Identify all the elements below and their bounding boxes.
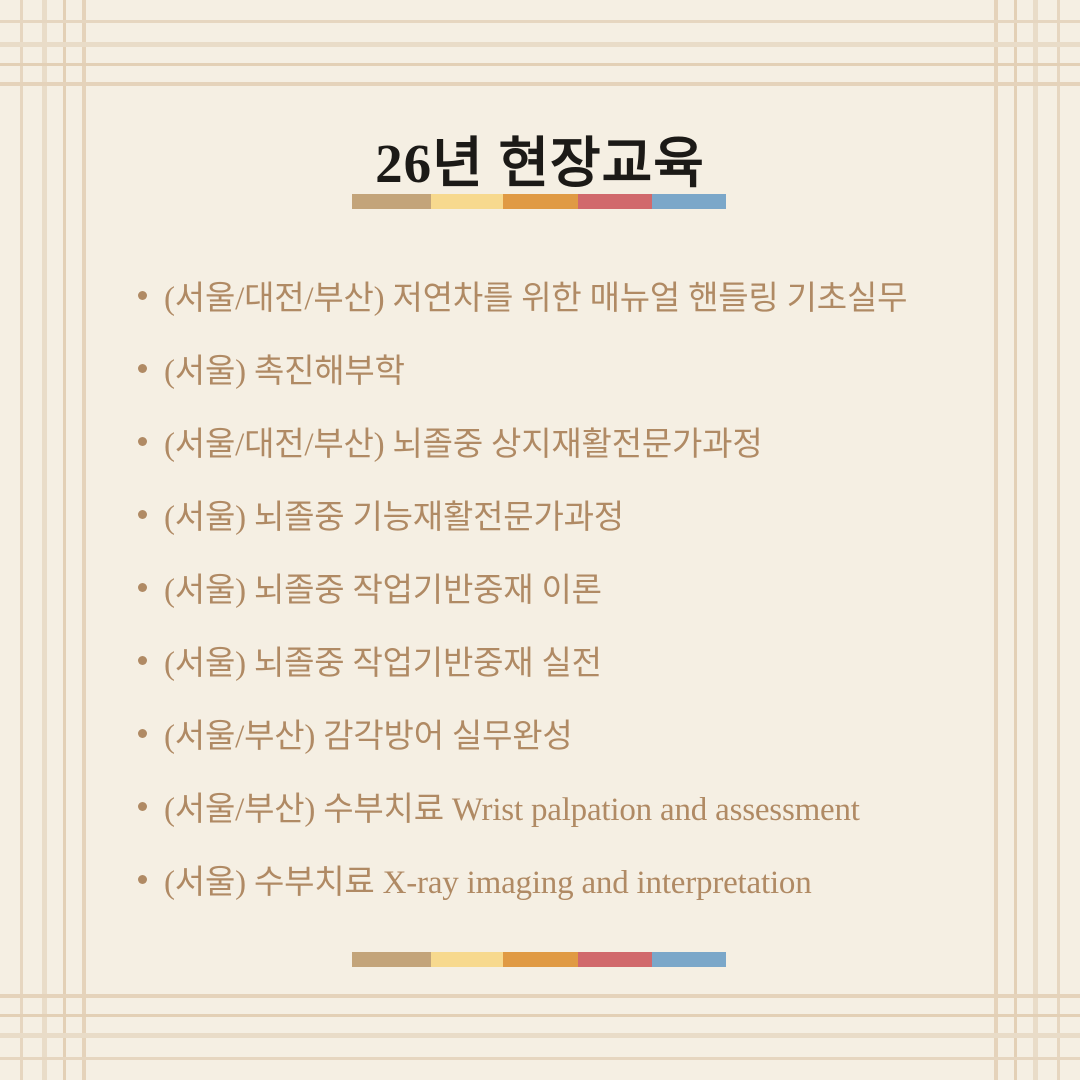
poster-content: 26년 현장교육 (서울/대전/부산) 저연차를 위한 매뉴얼 핸들링 기초실무… (0, 0, 1080, 1080)
course-list: (서울/대전/부산) 저연차를 위한 매뉴얼 핸들링 기초실무 (서울) 촉진해… (132, 258, 990, 915)
bullet-icon (138, 875, 147, 884)
divider-segment-tan (352, 952, 431, 967)
list-item: (서울) 촉진해부학 (132, 331, 990, 404)
course-label: (서울/부산) 감각방어 실무완성 (164, 709, 573, 757)
poster-canvas: 26년 현장교육 (서울/대전/부산) 저연차를 위한 매뉴얼 핸들링 기초실무… (0, 0, 1080, 1080)
course-label: (서울/대전/부산) 저연차를 위한 매뉴얼 핸들링 기초실무 (164, 271, 907, 319)
bullet-icon (138, 729, 147, 738)
course-label: (서울) 수부치료 X-ray imaging and interpretati… (164, 855, 812, 903)
list-item: (서울) 뇌졸중 작업기반중재 이론 (132, 550, 990, 623)
list-item: (서울/대전/부산) 뇌졸중 상지재활전문가과정 (132, 404, 990, 477)
bullet-icon (138, 364, 147, 373)
bullet-icon (138, 802, 147, 811)
color-divider-bottom (352, 952, 726, 967)
divider-segment-orange (503, 194, 577, 209)
list-item: (서울) 수부치료 X-ray imaging and interpretati… (132, 842, 990, 915)
course-label: (서울) 뇌졸중 작업기반중재 실전 (164, 636, 602, 684)
divider-segment-steel-blue (652, 952, 726, 967)
list-item: (서울/대전/부산) 저연차를 위한 매뉴얼 핸들링 기초실무 (132, 258, 990, 331)
course-label: (서울) 뇌졸중 기능재활전문가과정 (164, 490, 624, 538)
list-item: (서울) 뇌졸중 작업기반중재 실전 (132, 623, 990, 696)
bullet-icon (138, 437, 147, 446)
list-item: (서울) 뇌졸중 기능재활전문가과정 (132, 477, 990, 550)
course-label: (서울) 촉진해부학 (164, 344, 405, 392)
bullet-icon (138, 291, 147, 300)
list-item: (서울/부산) 감각방어 실무완성 (132, 696, 990, 769)
divider-segment-light-yellow (431, 952, 504, 967)
list-item: (서울/부산) 수부치료 Wrist palpation and assessm… (132, 769, 990, 842)
course-label: (서울/부산) 수부치료 Wrist palpation and assessm… (164, 782, 860, 830)
divider-segment-coral-red (578, 952, 652, 967)
divider-segment-coral-red (578, 194, 652, 209)
course-label: (서울) 뇌졸중 작업기반중재 이론 (164, 563, 602, 611)
course-label: (서울/대전/부산) 뇌졸중 상지재활전문가과정 (164, 417, 763, 465)
divider-segment-orange (503, 952, 577, 967)
bullet-icon (138, 583, 147, 592)
page-title: 26년 현장교육 (0, 134, 1080, 195)
divider-segment-steel-blue (652, 194, 726, 209)
divider-segment-light-yellow (431, 194, 504, 209)
color-divider-top (352, 194, 726, 209)
bullet-icon (138, 656, 147, 665)
divider-segment-tan (352, 194, 431, 209)
bullet-icon (138, 510, 147, 519)
